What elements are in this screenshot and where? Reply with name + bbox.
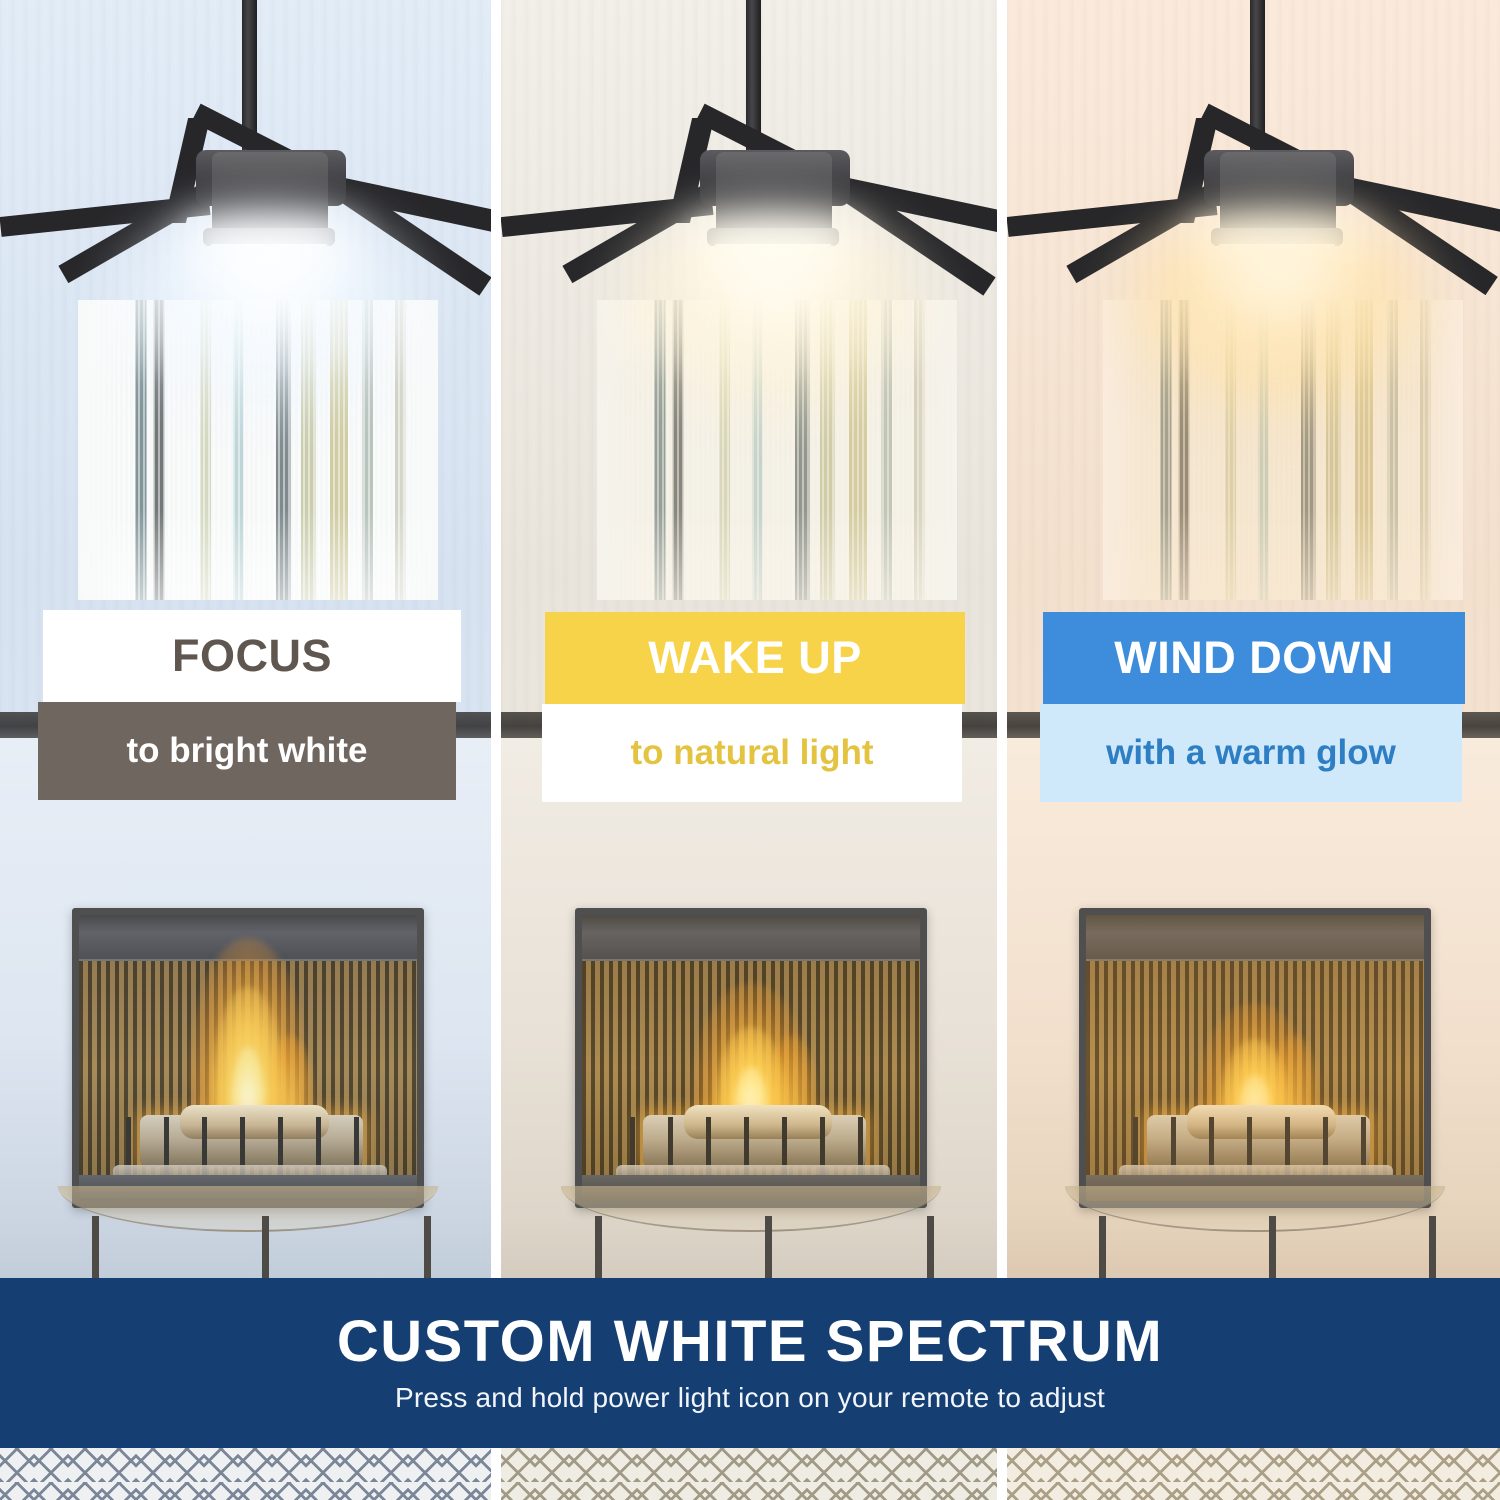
callout-focus-title-box: FOCUS [43, 610, 461, 702]
callout-wind-down-title-box: WIND DOWN [1043, 612, 1465, 704]
abstract-painting [78, 300, 438, 600]
rug-divider-2 [997, 1448, 1007, 1500]
callout-wind-down-subtitle: with a warm glow [1106, 733, 1396, 773]
panel-divider-1 [491, 0, 501, 1278]
callout-focus-subtitle-box: to bright white [38, 702, 456, 800]
fireplace [575, 908, 927, 1208]
callout-wind-down: WIND DOWN with a warm glow [1043, 612, 1465, 802]
callout-focus: FOCUS to bright white [38, 610, 456, 800]
fan-blade-lower-left [58, 181, 215, 283]
fan-light-kit [211, 244, 327, 286]
rug-panel-3 [1007, 1448, 1500, 1500]
bottom-banner: CUSTOM WHITE SPECTRUM Press and hold pow… [0, 1278, 1500, 1448]
stand-leg-mid [262, 1216, 269, 1278]
fan-light-kit [715, 244, 831, 286]
painting-edge-fade [597, 300, 957, 600]
callout-focus-subtitle: to bright white [126, 731, 367, 771]
product-comparison-graphic: FOCUS to bright white WAKE UP to natural… [0, 0, 1500, 1500]
rug-panel-2 [501, 1448, 996, 1500]
callout-wake-up-subtitle: to natural light [630, 733, 873, 773]
stand-leg-left [1099, 1216, 1106, 1278]
stand-leg-mid [1269, 1216, 1276, 1278]
fireplace [72, 908, 424, 1208]
stand-leg-left [595, 1216, 602, 1278]
rug-pattern [501, 1448, 996, 1500]
rug-pattern [0, 1448, 491, 1500]
callout-wind-down-title: WIND DOWN [1114, 632, 1393, 684]
ceiling-fan [1007, 0, 1500, 310]
stand-leg-right [927, 1216, 934, 1278]
fan-blade-lower-left [563, 181, 720, 283]
fan-light-kit [1219, 244, 1335, 286]
callout-wake-up-title: WAKE UP [648, 632, 862, 684]
callout-wake-up: WAKE UP to natural light [545, 612, 965, 802]
callout-wake-up-subtitle-box: to natural light [542, 704, 962, 802]
ceiling-fan [0, 0, 491, 310]
fan-blade-lower-left [1066, 181, 1223, 283]
callout-focus-title: FOCUS [172, 630, 332, 682]
fireplace-color-cast [79, 915, 417, 1201]
rug-divider-1 [491, 1448, 501, 1500]
banner-title: CUSTOM WHITE SPECTRUM [337, 1312, 1163, 1373]
stand-leg-mid [765, 1216, 772, 1278]
rug-strip [0, 1448, 1500, 1500]
fireplace [1079, 908, 1431, 1208]
fan-hub [1220, 152, 1336, 238]
ceiling-fan [501, 0, 996, 310]
banner-subtitle: Press and hold power light icon on your … [395, 1382, 1105, 1414]
painting-edge-fade [1103, 300, 1463, 600]
fan-hub [716, 152, 832, 238]
callout-wind-down-subtitle-box: with a warm glow [1040, 704, 1462, 802]
rug-panel-1 [0, 1448, 491, 1500]
fireplace-color-cast [582, 915, 920, 1201]
panel-divider-2 [997, 0, 1007, 1278]
abstract-painting [1103, 300, 1463, 600]
callout-wake-up-title-box: WAKE UP [545, 612, 965, 704]
abstract-painting [597, 300, 957, 600]
fan-hub [212, 152, 328, 238]
rug-pattern [1007, 1448, 1500, 1500]
stand-leg-left [92, 1216, 99, 1278]
painting-edge-fade [78, 300, 438, 600]
stand-leg-right [424, 1216, 431, 1278]
fireplace-color-cast [1086, 915, 1424, 1201]
stand-leg-right [1429, 1216, 1436, 1278]
